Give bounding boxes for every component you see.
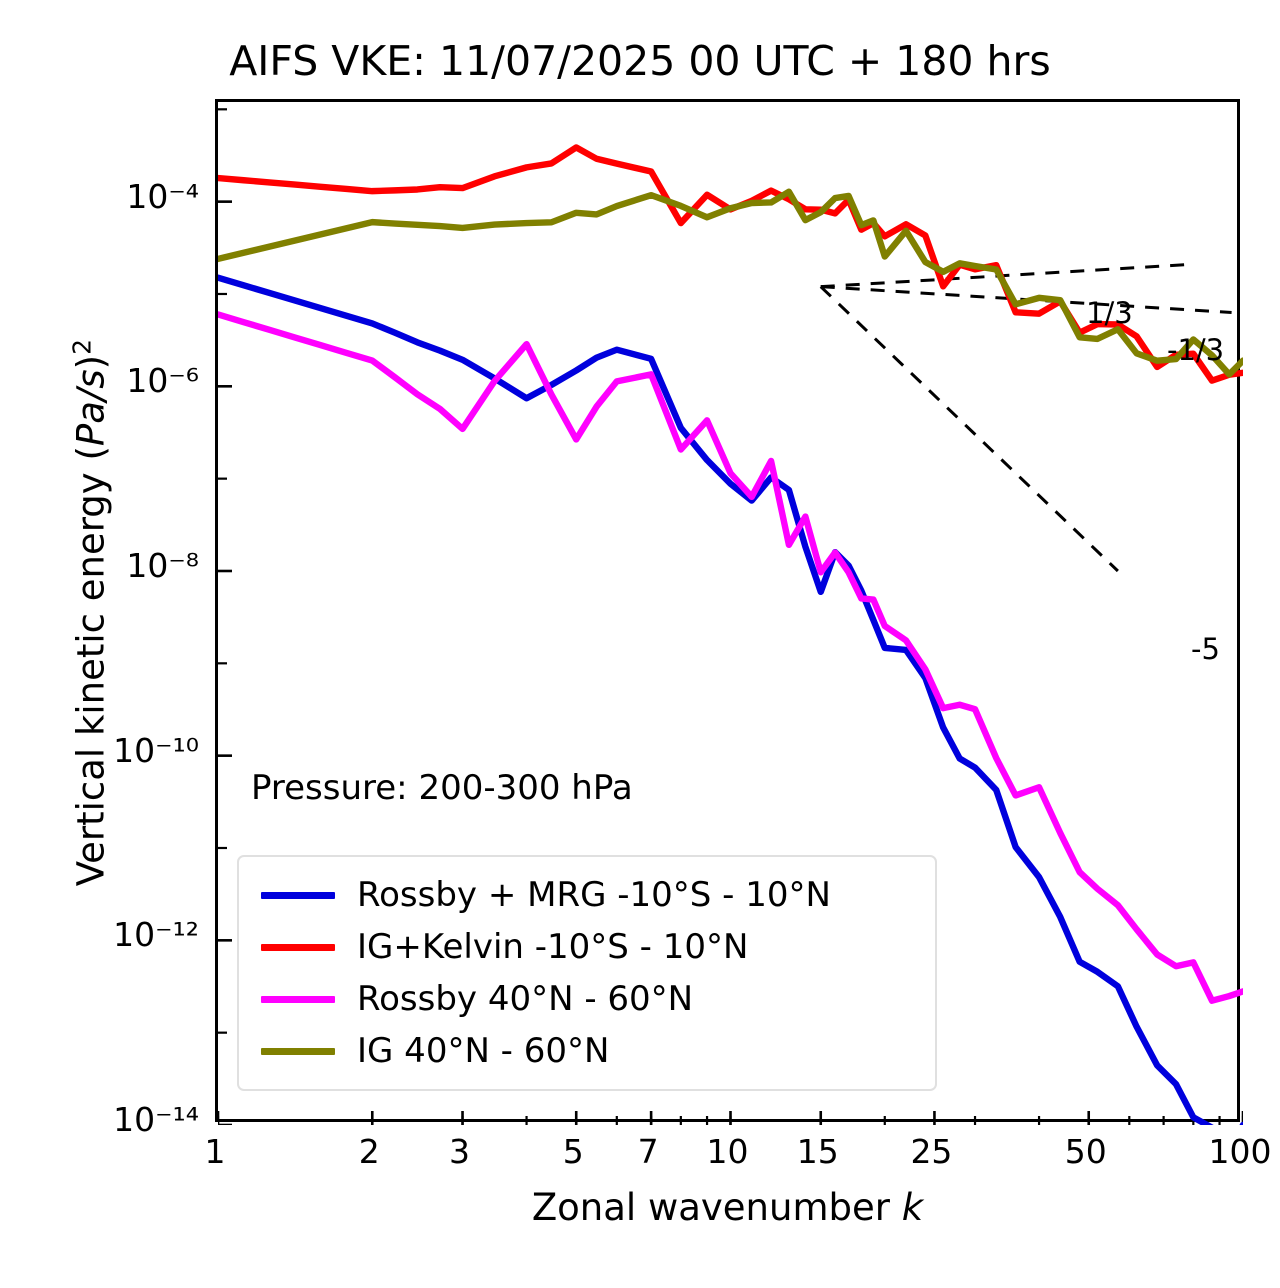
x-tick-label: 25 (871, 1132, 991, 1171)
x-axis-label-italic: k (902, 1186, 923, 1229)
legend-item-1[interactable]: IG+Kelvin -10°S - 10°N (239, 921, 935, 973)
legend-swatch-icon (261, 1048, 335, 1055)
x-tick-label: 1 (155, 1132, 275, 1171)
y-tick-label: 10⁻⁶ (126, 361, 199, 400)
legend: Rossby + MRG -10°S - 10°NIG+Kelvin -10°S… (237, 855, 937, 1091)
legend-swatch-icon (261, 996, 335, 1003)
slope-label-plus-third: 1/3 (1086, 296, 1133, 330)
legend-label: IG 40°N - 60°N (357, 1034, 609, 1068)
y-tick-label: 10⁻⁸ (126, 546, 199, 585)
pressure-annotation: Pressure: 200-300 hPa (251, 768, 633, 808)
x-tick-label: 15 (758, 1132, 878, 1171)
legend-item-0[interactable]: Rossby + MRG -10°S - 10°N (239, 869, 935, 921)
legend-label: Rossby + MRG -10°S - 10°N (357, 878, 831, 912)
y-axis-label-pre: Vertical kinetic energy ( (70, 446, 113, 886)
y-tick-label: 10⁻¹² (113, 915, 199, 954)
slope-label-minus-third: -1/3 (1167, 333, 1224, 367)
y-tick-label: 10⁻⁴ (126, 177, 199, 216)
legend-label: Rossby 40°N - 60°N (357, 982, 693, 1016)
chart-title: AIFS VKE: 11/07/2025 00 UTC + 180 hrs (0, 36, 1280, 86)
x-tick-label: 3 (400, 1132, 520, 1171)
legend-label: IG+Kelvin -10°S - 10°N (357, 930, 748, 964)
x-tick-label: 50 (1026, 1132, 1146, 1171)
slope-label-minus-five: -5 (1191, 632, 1220, 666)
x-axis-label-pre: Zonal wavenumber (532, 1186, 902, 1229)
x-axis-label: Zonal wavenumber k (215, 1186, 1240, 1229)
y-tick-label: 10⁻¹⁰ (113, 731, 199, 770)
legend-item-3[interactable]: IG 40°N - 60°N (239, 1025, 935, 1077)
legend-item-2[interactable]: Rossby 40°N - 60°N (239, 973, 935, 1025)
series-line-3 (218, 192, 1243, 375)
series-line-1 (218, 147, 1243, 380)
y-axis-label-italic: Pa/s (70, 369, 113, 446)
y-axis-label-exponent: 2 (67, 339, 96, 355)
y-axis-label-post: ) (70, 355, 113, 369)
legend-swatch-icon (261, 944, 335, 951)
y-axis-label: Vertical kinetic energy (Pa/s)2 (67, 193, 112, 1033)
figure: AIFS VKE: 11/07/2025 00 UTC + 180 hrs Ve… (0, 0, 1280, 1288)
legend-swatch-icon (261, 892, 335, 899)
x-tick-label: 100 (1180, 1132, 1280, 1171)
